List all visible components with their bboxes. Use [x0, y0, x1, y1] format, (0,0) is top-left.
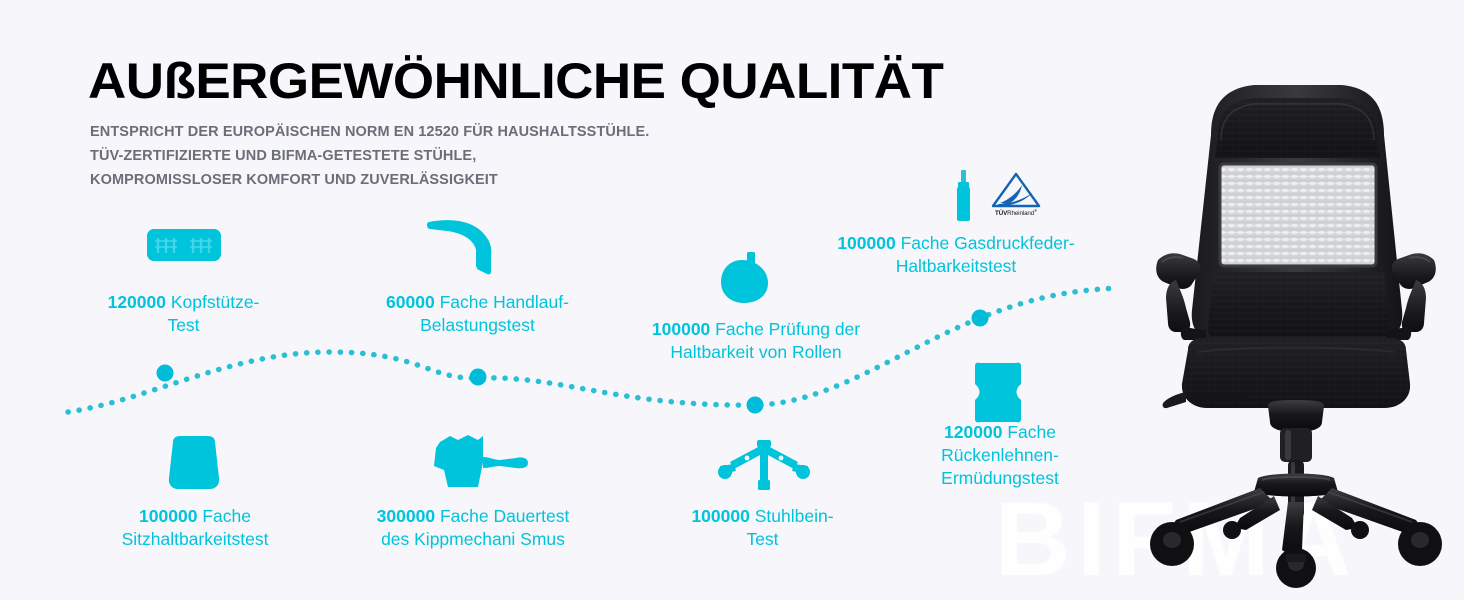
headrest-icon	[146, 228, 222, 267]
tuv-brand-regular: Rheinland	[1007, 210, 1034, 217]
tilt-mechanism-icon	[428, 432, 540, 499]
feature-label: Kopfstütze-	[166, 292, 259, 312]
feature-label-line3: Ermüdungstest	[920, 467, 1080, 490]
backrest-icon	[967, 362, 1029, 429]
tuv-rheinland-logo: TÜVRheinland®	[988, 171, 1044, 217]
feature-count: 300000	[377, 506, 435, 526]
feature-label: Fache Dauertest	[435, 506, 569, 526]
caster-wheel-icon	[718, 252, 774, 311]
feature-count: 60000	[386, 292, 435, 312]
product-feature-banner: AUßERGEWÖHNLICHE QUALITÄT ENTSPRICHT DER…	[0, 0, 1464, 600]
subtitle-line-2: TÜV-ZERTIFIZIERTE UND BIFMA-GETESTETE ST…	[90, 144, 649, 168]
feature-count: 100000	[691, 506, 749, 526]
seat-cushion-icon	[163, 434, 225, 499]
feature-label-line2: Haltbarkeitstest	[812, 255, 1100, 278]
feature-label-caster-durability-test: 100000 Fache Prüfung der Haltbarkeit von…	[620, 318, 892, 364]
feature-label: Fache	[197, 506, 251, 526]
feature-count: 100000	[837, 233, 895, 253]
feature-label-line2: Sitzhaltbarkeitstest	[95, 528, 295, 551]
feature-label-armrest-load-test: 60000 Fache Handlauf- Belastungstest	[360, 291, 595, 337]
feature-label: Fache Gasdruckfeder-	[896, 233, 1075, 253]
feature-label: Stuhlbein-	[750, 506, 834, 526]
subtitle-line-3: KOMPROMISSLOSER KOMFORT UND ZUVERLÄSSIGK…	[90, 168, 649, 192]
feature-label: Fache Handlauf-	[435, 292, 569, 312]
feature-label: Fache	[1002, 422, 1056, 442]
page-title: AUßERGEWÖHNLICHE QUALITÄT	[88, 52, 943, 110]
feature-label-headrest-test: 120000 Kopfstütze- Test	[81, 291, 286, 337]
feature-label-seat-durability-test: 100000 Fache Sitzhaltbarkeitstest	[95, 505, 295, 551]
feature-label: Fache Prüfung der	[710, 319, 860, 339]
armrest-icon	[425, 216, 497, 283]
tuv-logo-wordmark: TÜVRheinland®	[988, 208, 1044, 217]
gas-cylinder-icon	[954, 170, 974, 227]
subtitle-line-1: ENTSPRICHT DER EUROPÄISCHEN NORM EN 1252…	[90, 120, 649, 144]
feature-label-line2: des Kippmechani Smus	[348, 528, 598, 551]
tuv-brand-bold: TÜV	[995, 210, 1007, 217]
feature-label-tilt-mechanism-endurance-test: 300000 Fache Dauertest des Kippmechani S…	[348, 505, 598, 551]
feature-label-line2: Haltbarkeit von Rollen	[620, 341, 892, 364]
feature-count: 120000	[944, 422, 1002, 442]
feature-label-backrest-fatigue-test: 120000 Fache Rückenlehnen- Ermüdungstest	[920, 421, 1080, 490]
feature-label-line2: Test	[665, 528, 860, 551]
registered-mark: ®	[1034, 208, 1037, 213]
feature-count: 120000	[108, 292, 166, 312]
feature-count: 100000	[652, 319, 710, 339]
office-chair-photo	[1128, 40, 1464, 600]
feature-label-gas-cylinder-durability-test: 100000 Fache Gasdruckfeder- Haltbarkeits…	[812, 232, 1100, 278]
chair-base-icon	[710, 438, 818, 499]
feature-label-line2: Test	[81, 314, 286, 337]
feature-label-chair-leg-test: 100000 Stuhlbein- Test	[665, 505, 860, 551]
feature-label-line2: Belastungstest	[360, 314, 595, 337]
feature-label-line2: Rückenlehnen-	[920, 444, 1080, 467]
subtitle-block: ENTSPRICHT DER EUROPÄISCHEN NORM EN 1252…	[90, 120, 649, 192]
feature-count: 100000	[139, 506, 197, 526]
